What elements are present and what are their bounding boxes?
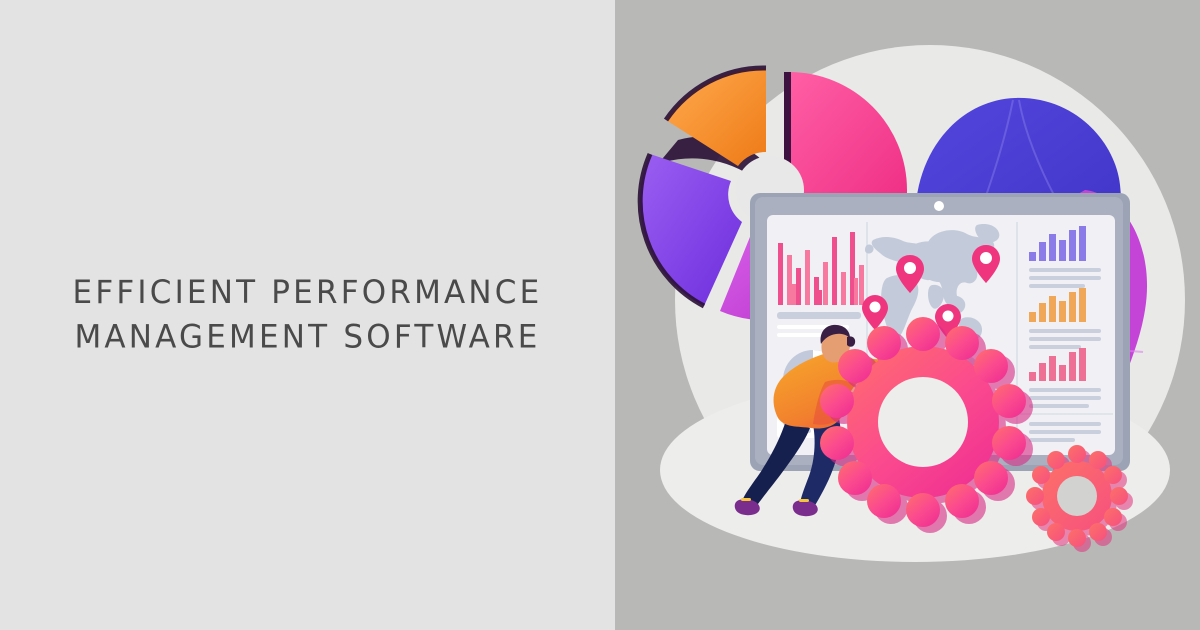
headline-line-1: Efficient Performance — [73, 274, 543, 311]
headline-panel: Efficient Performance Management Softwar… — [0, 0, 615, 630]
page-title: Efficient Performance Management Softwar… — [73, 270, 543, 360]
illustration — [615, 0, 1200, 630]
promo-banner: Efficient Performance Management Softwar… — [0, 0, 1200, 630]
gear-small-hole — [1057, 476, 1097, 516]
tablet-camera-icon — [934, 201, 944, 211]
headline-line-2: Management Software — [73, 315, 543, 360]
gear-large-hole — [878, 377, 968, 467]
illustration-panel — [615, 0, 1200, 630]
left-progress-bar — [777, 312, 861, 319]
